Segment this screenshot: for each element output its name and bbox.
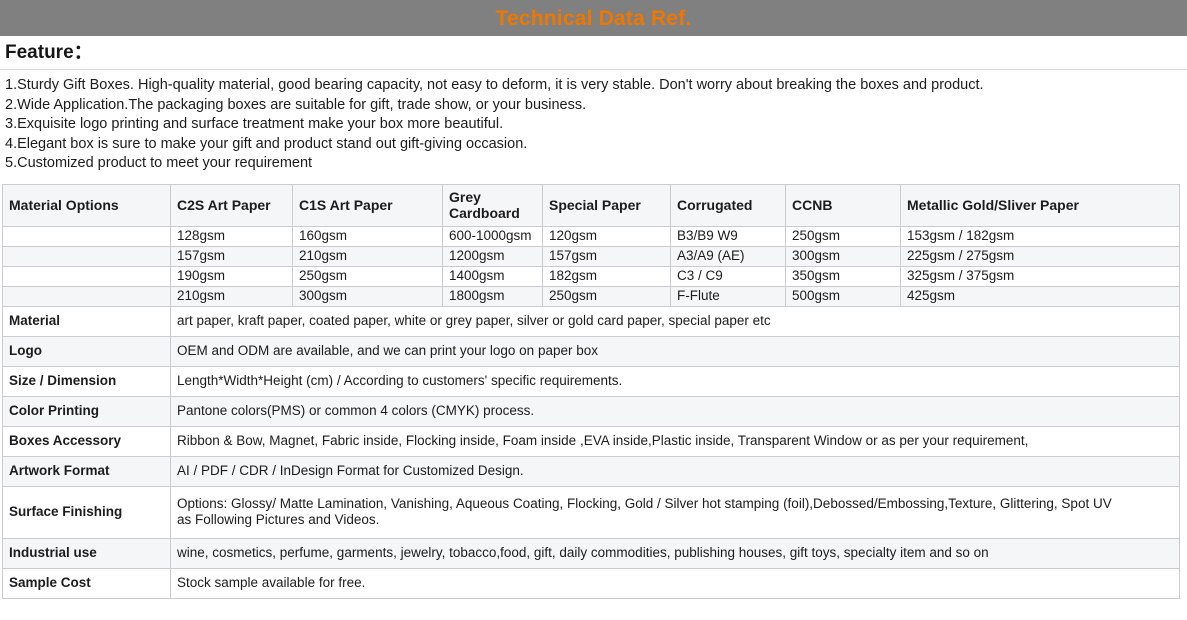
column-header-corrugated: Corrugated — [671, 184, 786, 226]
table-row-surface-finishing: Surface Finishing Options: Glossy/ Matte… — [3, 486, 1180, 538]
column-header-c1s-art-paper: C1S Art Paper — [293, 184, 443, 226]
technical-data-page: Technical Data Ref. Feature： 1.Sturdy Gi… — [0, 0, 1187, 620]
cell-c1s: 160gsm — [293, 226, 443, 246]
cell-grey: 1800gsm — [443, 286, 543, 306]
cell-special: 182gsm — [543, 266, 671, 286]
table-row-material: Material art paper, kraft paper, coated … — [3, 306, 1180, 336]
cell-metallic: 425gsm — [901, 286, 1180, 306]
title-bar: Technical Data Ref. — [0, 0, 1187, 36]
cell-c2s: 128gsm — [171, 226, 293, 246]
cell-corrugated: C3 / C9 — [671, 266, 786, 286]
cell-corrugated: A3/A9 (AE) — [671, 246, 786, 266]
table-row-boxes-accessory: Boxes Accessory Ribbon & Bow, Magnet, Fa… — [3, 426, 1180, 456]
row-value-surface-finishing: Options: Glossy/ Matte Lamination, Vanis… — [171, 486, 1180, 538]
table-row-sample-cost: Sample Cost Stock sample available for f… — [3, 568, 1180, 598]
feature-heading: Feature： — [0, 36, 1187, 69]
surface-finishing-line-1: Options: Glossy/ Matte Lamination, Vanis… — [177, 496, 1173, 512]
cell-blank — [3, 286, 171, 306]
column-header-metallic-gold-sliver-paper: Metallic Gold/Sliver Paper — [901, 184, 1180, 226]
feature-line: 3.Exquisite logo printing and surface tr… — [5, 115, 1187, 135]
row-value-color-printing: Pantone colors(PMS) or common 4 colors (… — [171, 396, 1180, 426]
cell-c2s: 210gsm — [171, 286, 293, 306]
row-value-logo: OEM and ODM are available, and we can pr… — [171, 336, 1180, 366]
cell-c1s: 250gsm — [293, 266, 443, 286]
cell-special: 250gsm — [543, 286, 671, 306]
cell-blank — [3, 246, 171, 266]
row-label-material: Material — [3, 306, 171, 336]
row-value-material: art paper, kraft paper, coated paper, wh… — [171, 306, 1180, 336]
feature-line: 2.Wide Application.The packaging boxes a… — [5, 96, 1187, 116]
table-row-industrial-use: Industrial use wine, cosmetics, perfume,… — [3, 538, 1180, 568]
row-value-sample-cost: Stock sample available for free. — [171, 568, 1180, 598]
row-label-color-printing: Color Printing — [3, 396, 171, 426]
row-label-logo: Logo — [3, 336, 171, 366]
feature-line: 5.Customized product to meet your requir… — [5, 154, 1187, 174]
row-value-boxes-accessory: Ribbon & Bow, Magnet, Fabric inside, Flo… — [171, 426, 1180, 456]
cell-blank — [3, 226, 171, 246]
column-header-special-paper: Special Paper — [543, 184, 671, 226]
row-label-artwork-format: Artwork Format — [3, 456, 171, 486]
row-value-industrial-use: wine, cosmetics, perfume, garments, jewe… — [171, 538, 1180, 568]
cell-corrugated: B3/B9 W9 — [671, 226, 786, 246]
spec-table: Material Options C2S Art Paper C1S Art P… — [2, 184, 1180, 599]
cell-ccnb: 300gsm — [786, 246, 901, 266]
cell-special: 157gsm — [543, 246, 671, 266]
feature-line: 1.Sturdy Gift Boxes. High-quality materi… — [5, 76, 1187, 96]
column-header-material-options: Material Options — [3, 184, 171, 226]
table-header-row: Material Options C2S Art Paper C1S Art P… — [3, 184, 1180, 226]
cell-metallic: 325gsm / 375gsm — [901, 266, 1180, 286]
feature-line: 4.Elegant box is sure to make your gift … — [5, 135, 1187, 155]
feature-heading-label: Feature： — [5, 43, 93, 62]
cell-corrugated: F-Flute — [671, 286, 786, 306]
table-row-logo: Logo OEM and ODM are available, and we c… — [3, 336, 1180, 366]
page-title: Technical Data Ref. — [496, 8, 692, 29]
column-header-ccnb: CCNB — [786, 184, 901, 226]
cell-grey: 1200gsm — [443, 246, 543, 266]
row-label-size-dimension: Size / Dimension — [3, 366, 171, 396]
column-header-c2s-art-paper: C2S Art Paper — [171, 184, 293, 226]
table-row: 128gsm 160gsm 600-1000gsm 120gsm B3/B9 W… — [3, 226, 1180, 246]
feature-list: 1.Sturdy Gift Boxes. High-quality materi… — [0, 70, 1187, 179]
row-label-boxes-accessory: Boxes Accessory — [3, 426, 171, 456]
cell-metallic: 225gsm / 275gsm — [901, 246, 1180, 266]
table-row-size-dimension: Size / Dimension Length*Width*Height (cm… — [3, 366, 1180, 396]
row-label-surface-finishing: Surface Finishing — [3, 486, 171, 538]
table-row: 190gsm 250gsm 1400gsm 182gsm C3 / C9 350… — [3, 266, 1180, 286]
column-header-grey-cardboard: Grey Cardboard — [443, 184, 543, 226]
cell-metallic: 153gsm / 182gsm — [901, 226, 1180, 246]
table-row-color-printing: Color Printing Pantone colors(PMS) or co… — [3, 396, 1180, 426]
row-label-sample-cost: Sample Cost — [3, 568, 171, 598]
cell-c2s: 157gsm — [171, 246, 293, 266]
cell-ccnb: 350gsm — [786, 266, 901, 286]
surface-finishing-line-2: as Following Pictures and Videos. — [177, 512, 1173, 528]
cell-c1s: 210gsm — [293, 246, 443, 266]
row-value-size-dimension: Length*Width*Height (cm) / According to … — [171, 366, 1180, 396]
cell-blank — [3, 266, 171, 286]
row-value-artwork-format: AI / PDF / CDR / InDesign Format for Cus… — [171, 456, 1180, 486]
spec-table-wrap: Material Options C2S Art Paper C1S Art P… — [0, 179, 1187, 599]
table-row: 210gsm 300gsm 1800gsm 250gsm F-Flute 500… — [3, 286, 1180, 306]
cell-grey: 1400gsm — [443, 266, 543, 286]
cell-grey: 600-1000gsm — [443, 226, 543, 246]
row-label-industrial-use: Industrial use — [3, 538, 171, 568]
cell-ccnb: 500gsm — [786, 286, 901, 306]
cell-special: 120gsm — [543, 226, 671, 246]
cell-ccnb: 250gsm — [786, 226, 901, 246]
table-row: 157gsm 210gsm 1200gsm 157gsm A3/A9 (AE) … — [3, 246, 1180, 266]
cell-c1s: 300gsm — [293, 286, 443, 306]
cell-c2s: 190gsm — [171, 266, 293, 286]
table-row-artwork-format: Artwork Format AI / PDF / CDR / InDesign… — [3, 456, 1180, 486]
